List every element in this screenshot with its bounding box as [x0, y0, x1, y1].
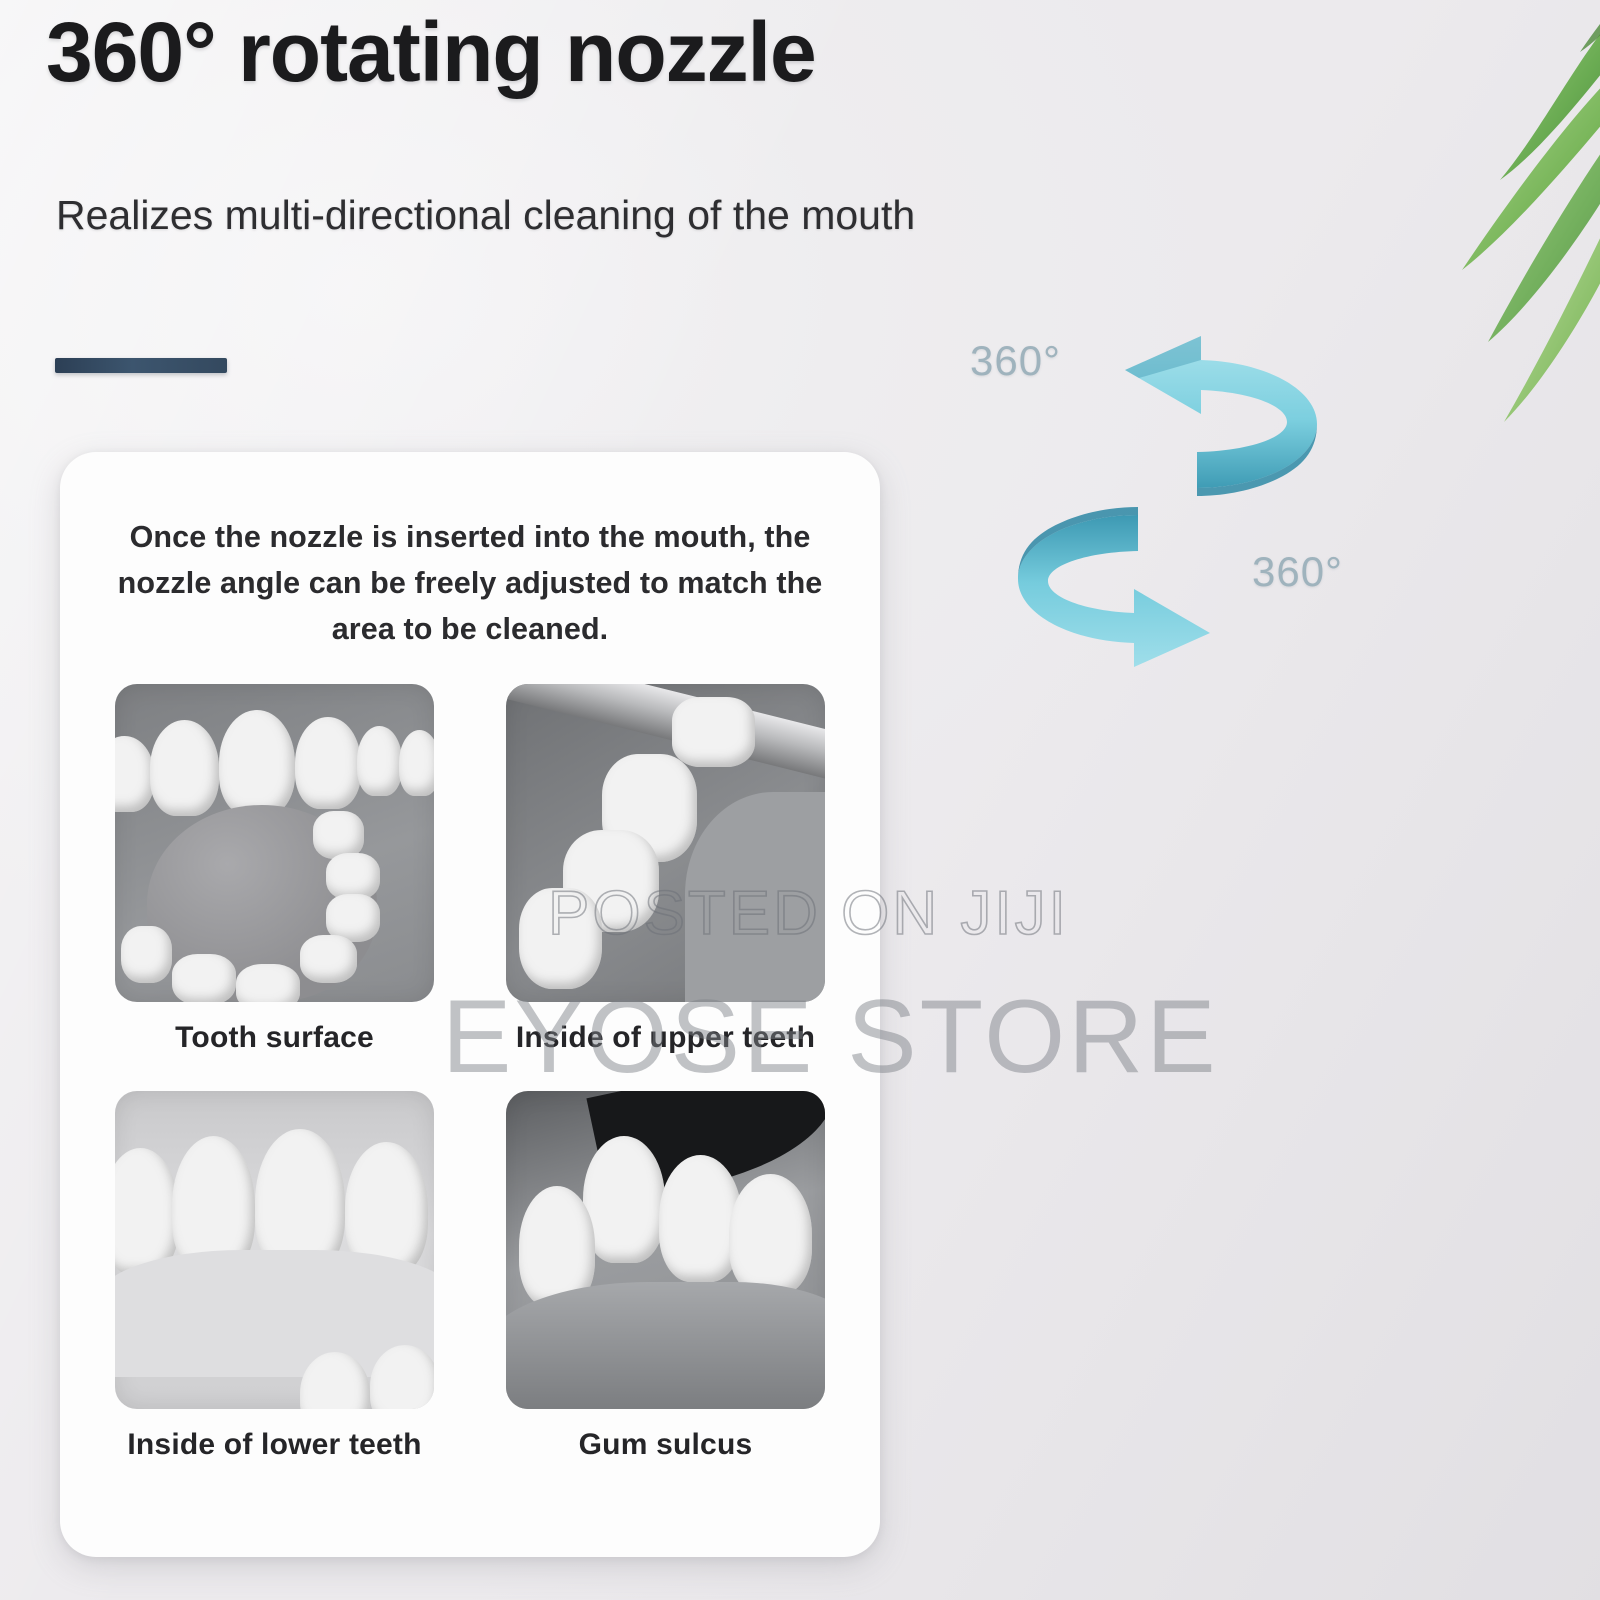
page-title: 360° rotating nozzle [46, 4, 816, 101]
gum-sulcus-photo [506, 1091, 825, 1409]
tile-caption: Gum sulcus [506, 1428, 825, 1462]
inside-upper-teeth-photo [506, 684, 825, 1002]
tile-caption: Inside of lower teeth [115, 1428, 434, 1462]
grid-row: Inside of lower teeth Gum sulcus [115, 1091, 825, 1462]
product-marketing-image: 360° rotating nozzle Realizes multi-dire… [0, 0, 1600, 1600]
grid-cell-gum-sulcus: Gum sulcus [506, 1091, 825, 1462]
card-description: Once the nozzle is inserted into the mou… [110, 514, 830, 652]
inside-lower-teeth-photo [115, 1091, 434, 1409]
grid-cell-inside-upper-teeth: Inside of upper teeth [506, 684, 825, 1055]
rotation-label-lower: 360° [1252, 548, 1343, 596]
tile-caption: Tooth surface [115, 1021, 434, 1055]
water-flosser-device: WEAK STRONG PULSE [900, 0, 1600, 1600]
rotation-label-upper: 360° [970, 337, 1061, 385]
info-card: Once the nozzle is inserted into the mou… [60, 452, 880, 1557]
grid-cell-inside-lower-teeth: Inside of lower teeth [115, 1091, 434, 1462]
accent-divider [55, 358, 227, 373]
tooth-surface-photo [115, 684, 434, 1002]
tile-caption: Inside of upper teeth [506, 1021, 825, 1055]
grid-row: Tooth surface Inside of upper teeth [115, 684, 825, 1055]
page-subtitle: Realizes multi-directional cleaning of t… [56, 192, 915, 239]
usage-grid: Tooth surface Inside of upper teeth [115, 684, 825, 1484]
grid-cell-tooth-surface: Tooth surface [115, 684, 434, 1055]
